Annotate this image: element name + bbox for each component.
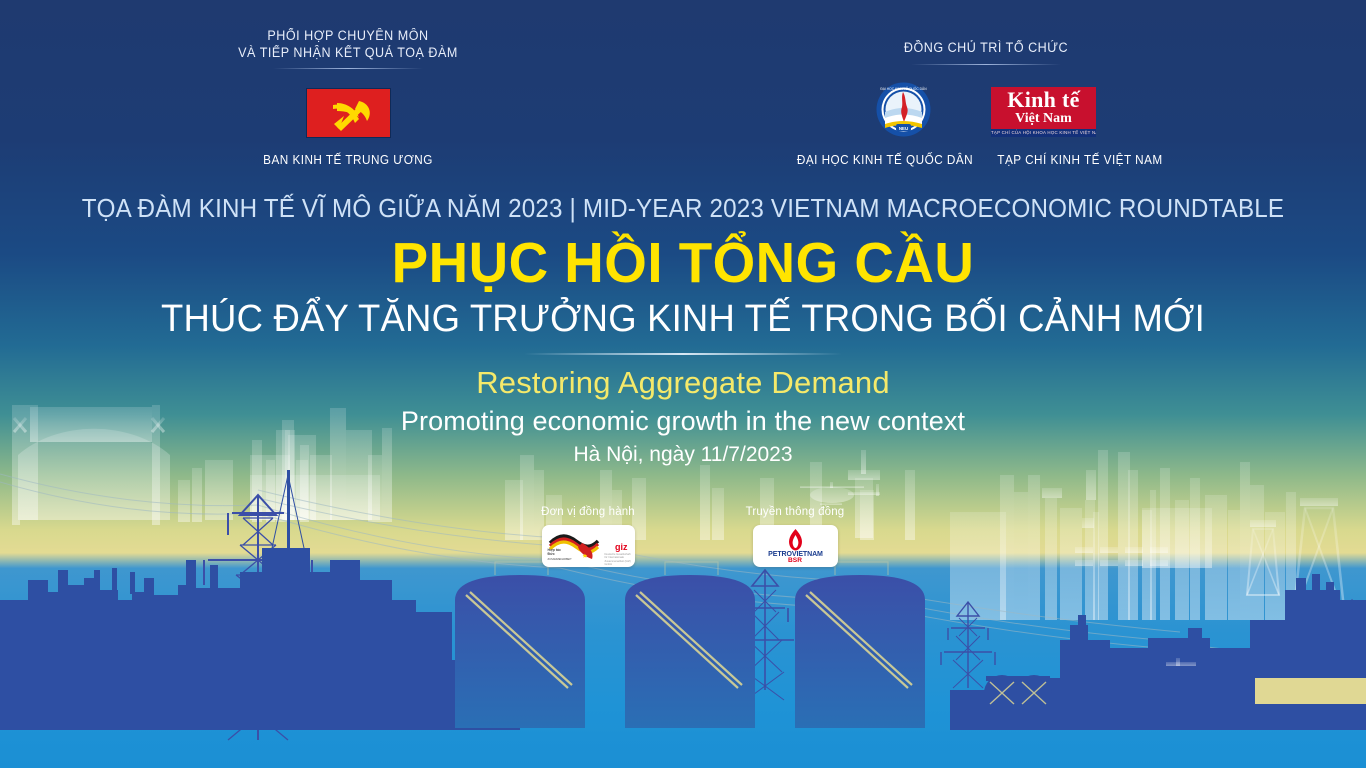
header-right-block: ĐỒNG CHỦ TRÌ TỔ CHỨC [786, 40, 1186, 65]
header-right-logo-row: NEU ĐẠI HỌC KINH TẾ QUỐC DÂN Kinh tế Việ… [786, 82, 1186, 137]
neu-emblem-icon: NEU ĐẠI HỌC KINH TẾ QUỐC DÂN [876, 82, 931, 137]
magazine-title-line1: Kinh tế [1007, 89, 1079, 111]
header-right-divider [911, 64, 1061, 65]
header-left-label-line2: VÀ TIẾP NHẬN KẾT QUẢ TOẠ ĐÀM [162, 45, 534, 62]
conference-poster: PHỐI HỢP CHUYÊN MÔN VÀ TIẾP NHẬN KẾT QUẢ… [0, 0, 1366, 768]
header-right-org2-caption: TẠP CHÍ KINH TẾ VIỆT NAM [991, 153, 1170, 167]
magazine-tagline: TẠP CHÍ CỦA HỘI KHOA HỌC KINH TẾ VIỆT NA… [991, 129, 1096, 137]
sponsor-group-partner: Đơn vị đồng hành Hợp tác Đức ZUSAMMENARB… [493, 505, 683, 567]
event-english-subtitle: Promoting economic growth in the new con… [0, 403, 1366, 440]
svg-text:NEU: NEU [899, 126, 908, 131]
event-main-title: PHỤC HỒI TỔNG CẦU [27, 230, 1338, 296]
giz-wordmark: giz [615, 543, 628, 552]
bsr-subbrand: BSR [753, 557, 838, 564]
header-left-block: PHỐI HỢP CHUYÊN MÔN VÀ TIẾP NHẬN KẾT QUẢ… [148, 28, 548, 69]
poster-titles: TỌA ĐÀM KINH TẾ VĨ MÔ GIỮA NĂM 2023 | MI… [0, 190, 1366, 470]
magazine-title-line2: Việt Nam [1015, 111, 1072, 126]
giz-partner-text: Hợp tác Đức ZUSAMMENARBEIT [548, 548, 572, 562]
giz-logo-icon: Hợp tác Đức ZUSAMMENARBEIT giz Deutsche … [542, 525, 635, 567]
sponsor-group-media: Truyền thông đồng PETROVIETNAM BSR [700, 505, 890, 567]
sponsor-label: Đơn vị đồng hành [493, 505, 683, 519]
title-divider [524, 353, 842, 355]
kinh-te-viet-nam-logo-icon: Kinh tế Việt Nam TẠP CHÍ CỦA HỘI KHOA HỌ… [991, 87, 1096, 137]
poster-header: PHỐI HỢP CHUYÊN MÔN VÀ TIẾP NHẬN KẾT QUẢ… [0, 0, 1366, 180]
petrovietnam-bsr-logo-icon: PETROVIETNAM BSR [753, 525, 838, 567]
header-right-org1-caption: ĐẠI HỌC KINH TẾ QUỐC DÂN [796, 153, 975, 167]
header-left-label-line1: PHỐI HỢP CHUYÊN MÔN [162, 28, 534, 45]
header-left-logo-row [148, 88, 548, 138]
event-date-location: Hà Nội, ngày 11/7/2023 [0, 440, 1366, 470]
event-english-main-title: Restoring Aggregate Demand [0, 363, 1366, 403]
party-flag-icon [306, 88, 391, 138]
header-left-org-caption: BAN KINH TẾ TRUNG ƯƠNG [160, 153, 536, 167]
sponsor-label: Truyền thông đồng [700, 505, 890, 519]
event-kicker-title: TỌA ĐÀM KINH TẾ VĨ MÔ GIỮA NĂM 2023 | MI… [48, 190, 1318, 226]
svg-text:ĐẠI HỌC KINH TẾ QUỐC DÂN: ĐẠI HỌC KINH TẾ QUỐC DÂN [880, 86, 927, 91]
header-right-label-line1: ĐỒNG CHỦ TRÌ TỔ CHỨC [800, 40, 1172, 57]
giz-wordmark-subtitle: Deutsche Gesellschaft für Internationale… [605, 553, 633, 566]
oil-storage-tanks [455, 562, 925, 728]
header-left-divider [273, 68, 423, 69]
event-subtitle: THÚC ĐẨY TĂNG TRƯỞNG KINH TẾ TRONG BỐI C… [27, 296, 1338, 342]
